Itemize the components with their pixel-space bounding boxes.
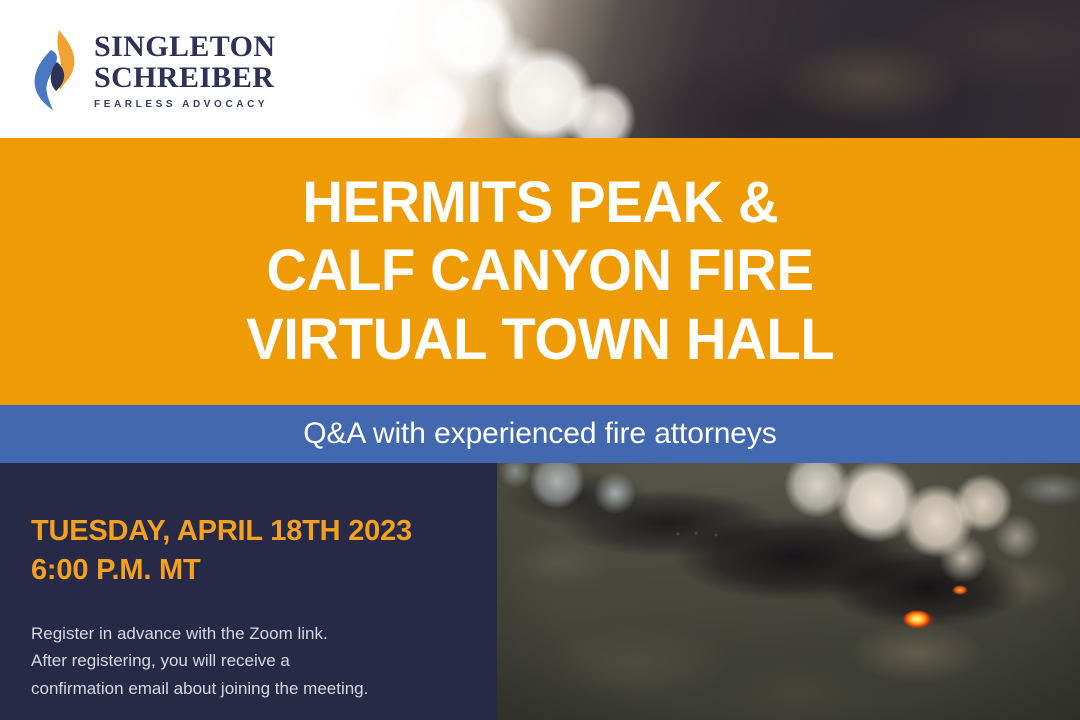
event-time: 6:00 P.M. MT bbox=[31, 551, 481, 590]
event-date: TUESDAY, APRIL 18TH 2023 bbox=[31, 512, 481, 551]
registration-line-1: Register in advance with the Zoom link. bbox=[31, 620, 481, 647]
title-line-3: VIRTUAL TOWN HALL bbox=[246, 306, 834, 374]
brand-name-line-2: SCHREIBER bbox=[94, 63, 275, 94]
photo-vignette bbox=[497, 463, 1080, 720]
event-details: TUESDAY, APRIL 18TH 2023 6:00 P.M. MT Re… bbox=[31, 512, 481, 702]
brand-tagline: FEARLESS ADVOCACY bbox=[94, 99, 275, 110]
registration-line-3: confirmation email about joining the mee… bbox=[31, 675, 481, 702]
title-line-1: HERMITS PEAK & bbox=[302, 169, 778, 237]
details-section: TUESDAY, APRIL 18TH 2023 6:00 P.M. MT Re… bbox=[0, 463, 1080, 720]
flame-icon bbox=[29, 28, 81, 112]
brand-logo[interactable]: SINGLETON SCHREIBER FEARLESS ADVOCACY bbox=[29, 28, 275, 112]
registration-line-2: After registering, you will receive a bbox=[31, 647, 481, 674]
header-band: SINGLETON SCHREIBER FEARLESS ADVOCACY bbox=[0, 0, 1080, 138]
brand-wordmark: SINGLETON SCHREIBER FEARLESS ADVOCACY bbox=[94, 30, 275, 110]
subtitle-text: Q&A with experienced fire attorneys bbox=[303, 417, 776, 451]
event-flyer: SINGLETON SCHREIBER FEARLESS ADVOCACY HE… bbox=[0, 0, 1080, 720]
title-line-2: CALF CANYON FIRE bbox=[266, 237, 813, 305]
registration-instructions: Register in advance with the Zoom link. … bbox=[31, 620, 481, 702]
bottom-wildfire-photo bbox=[497, 463, 1080, 720]
subtitle-band: Q&A with experienced fire attorneys bbox=[0, 405, 1080, 463]
brand-name-line-1: SINGLETON bbox=[94, 32, 275, 63]
title-band: HERMITS PEAK & CALF CANYON FIRE VIRTUAL … bbox=[0, 138, 1080, 405]
